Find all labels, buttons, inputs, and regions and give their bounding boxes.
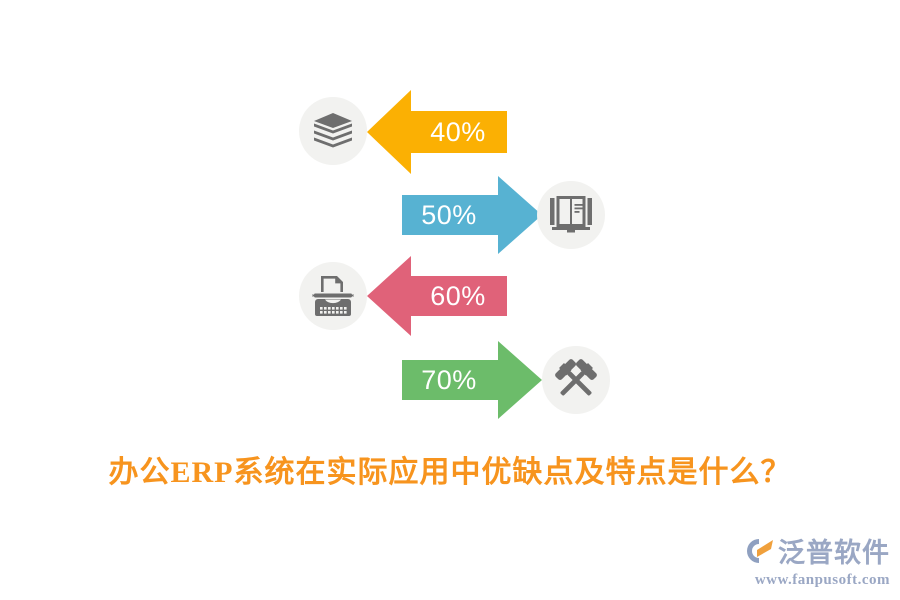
arrow-60-percent: 60% (367, 256, 507, 336)
open-book-icon-circle (537, 181, 605, 249)
watermark-logo: 泛普软件 www.fanpusoft.com (745, 537, 890, 588)
arrow-70-percent: 70% (402, 341, 542, 419)
page-title: 办公ERP系统在实际应用中优缺点及特点是什么？ (0, 447, 900, 491)
watermark-url: www.fanpusoft.com (745, 573, 890, 588)
arrow-40-shape (367, 90, 507, 174)
typewriter-icon-circle (299, 262, 367, 330)
typewriter-icon (312, 275, 354, 317)
arrow-40-percent: 40% (367, 90, 507, 174)
open-book-icon (550, 195, 592, 235)
slide-canvas: 40% 50% (0, 0, 900, 600)
watermark-brand: 泛普软件 (778, 540, 890, 567)
crossed-hammers-icon (554, 358, 598, 402)
books-stack-icon (311, 109, 355, 153)
fanpu-logo-mark (745, 537, 775, 570)
arrow-50-percent: 50% (402, 176, 542, 254)
arrow-70-shape (402, 341, 542, 419)
crossed-hammers-icon-circle (542, 346, 610, 414)
arrow-60-shape (367, 256, 507, 336)
arrow-50-shape (402, 176, 542, 254)
books-stack-icon-circle (299, 97, 367, 165)
